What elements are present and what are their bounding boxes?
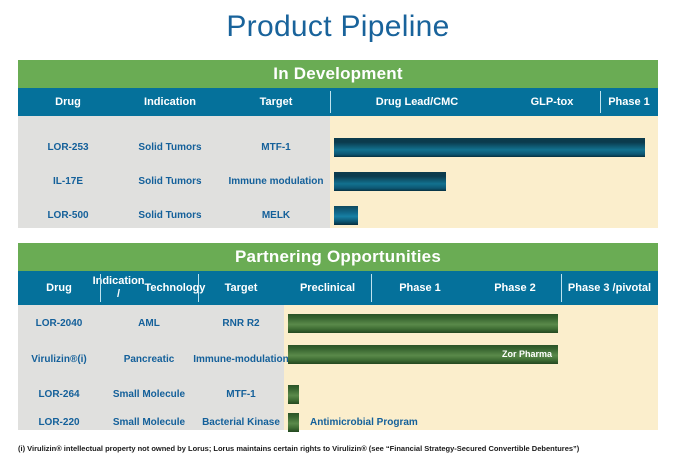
column-header-row-in-development: Drug Indication Target Drug Lead/CMC GLP…: [18, 88, 658, 116]
progress-bar-lor-2040: [288, 314, 558, 333]
progress-bar-lor-264: [288, 385, 299, 404]
cell-indication: Solid Tumors: [118, 132, 222, 164]
cell-drug: IL-17E: [18, 166, 118, 198]
column-header-phase-3-pivotal: Phase 3 / pivotal: [561, 271, 658, 305]
progress-bar-lor-220: [288, 413, 299, 432]
page-title: Product Pipeline: [0, 10, 676, 44]
header-separator: [330, 91, 331, 113]
progress-bar-lor-500: [334, 206, 358, 225]
cell-target: Immune modulation: [220, 166, 332, 198]
cell-drug: LOR-500: [18, 200, 118, 232]
cell-drug: Virulizin®(i): [18, 341, 100, 379]
cell-target: MELK: [222, 200, 330, 232]
progress-bar-il-17e: [334, 172, 446, 191]
cell-indication: Small Molecule: [100, 409, 198, 437]
cell-target-line-2: modulation: [235, 354, 289, 366]
cell-indication: Solid Tumors: [118, 166, 222, 198]
progress-bar-lor-253: [334, 138, 645, 157]
rows-in-development: LOR-253 Solid Tumors MTF-1 IL-17E Solid …: [18, 116, 658, 228]
cell-target: MTF-1: [222, 132, 330, 164]
column-header-drug: Drug: [18, 271, 100, 305]
column-header-target: Target: [222, 88, 330, 116]
table-row: LOR-264 Small Molecule MTF-1: [18, 381, 658, 409]
cell-drug: LOR-220: [18, 409, 100, 437]
table-row: LOR-220 Small Molecule Bacterial Kinase …: [18, 409, 658, 437]
cell-target-line-1: Immune-: [193, 354, 235, 366]
table-row: LOR-500 Solid Tumors MELK: [18, 200, 658, 232]
cell-indication: Small Molecule: [100, 381, 198, 409]
header-separator: [198, 274, 199, 302]
header-separator: [100, 274, 101, 302]
table-row: LOR-2040 AML RNR R2: [18, 309, 658, 339]
header-separator: [561, 274, 562, 302]
section-band-partnering-opportunities: Partnering Opportunities: [18, 243, 658, 271]
cell-indication: Pancreatic: [100, 341, 198, 379]
column-header-line-2: Technology: [145, 282, 206, 295]
bar-label-zor-pharma: Zor Pharma: [502, 345, 552, 364]
cell-drug: LOR-253: [18, 132, 118, 164]
column-header-line-1: Phase 3 /: [568, 282, 616, 295]
header-separator: [371, 274, 372, 302]
cell-drug: LOR-264: [18, 381, 100, 409]
cell-target: MTF-1: [198, 381, 284, 409]
column-header-drug: Drug: [18, 88, 118, 116]
column-header-phase-2: Phase 2: [469, 271, 561, 305]
column-header-indication-technology: Indication / Technology: [100, 271, 198, 305]
column-header-phase-1: Phase 1: [600, 88, 658, 116]
column-header-glp-tox: GLP-tox: [504, 88, 600, 116]
column-header-preclinical: Preclinical: [284, 271, 371, 305]
table-row: LOR-253 Solid Tumors MTF-1: [18, 132, 658, 164]
rows-partnering-opportunities: LOR-2040 AML RNR R2 Virulizin®(i) Pancre…: [18, 305, 658, 430]
bar-annotation-antimicrobial-program: Antimicrobial Program: [310, 413, 418, 432]
header-separator: [600, 91, 601, 113]
column-header-line-2: pivotal: [616, 282, 651, 295]
column-header-drug-lead-cmc: Drug Lead/CMC: [330, 88, 504, 116]
column-header-row-partnering: Drug Indication / Technology Target Prec…: [18, 271, 658, 305]
table-row: Virulizin®(i) Pancreatic Immune- modulat…: [18, 341, 658, 379]
section-band-in-development: In Development: [18, 60, 658, 88]
cell-indication: Solid Tumors: [118, 200, 222, 232]
column-header-indication: Indication: [118, 88, 222, 116]
cell-target: RNR R2: [198, 309, 284, 339]
column-header-target: Target: [198, 271, 284, 305]
cell-drug: LOR-2040: [18, 309, 100, 339]
table-row: IL-17E Solid Tumors Immune modulation: [18, 166, 658, 198]
progress-bar-virulizin: Zor Pharma: [288, 345, 558, 364]
footnote: (i) Virulizin® intellectual property not…: [18, 444, 668, 453]
cell-target: Immune- modulation: [198, 341, 284, 379]
cell-target: Bacterial Kinase: [196, 409, 286, 437]
cell-indication: AML: [100, 309, 198, 339]
column-header-phase-1: Phase 1: [371, 271, 469, 305]
